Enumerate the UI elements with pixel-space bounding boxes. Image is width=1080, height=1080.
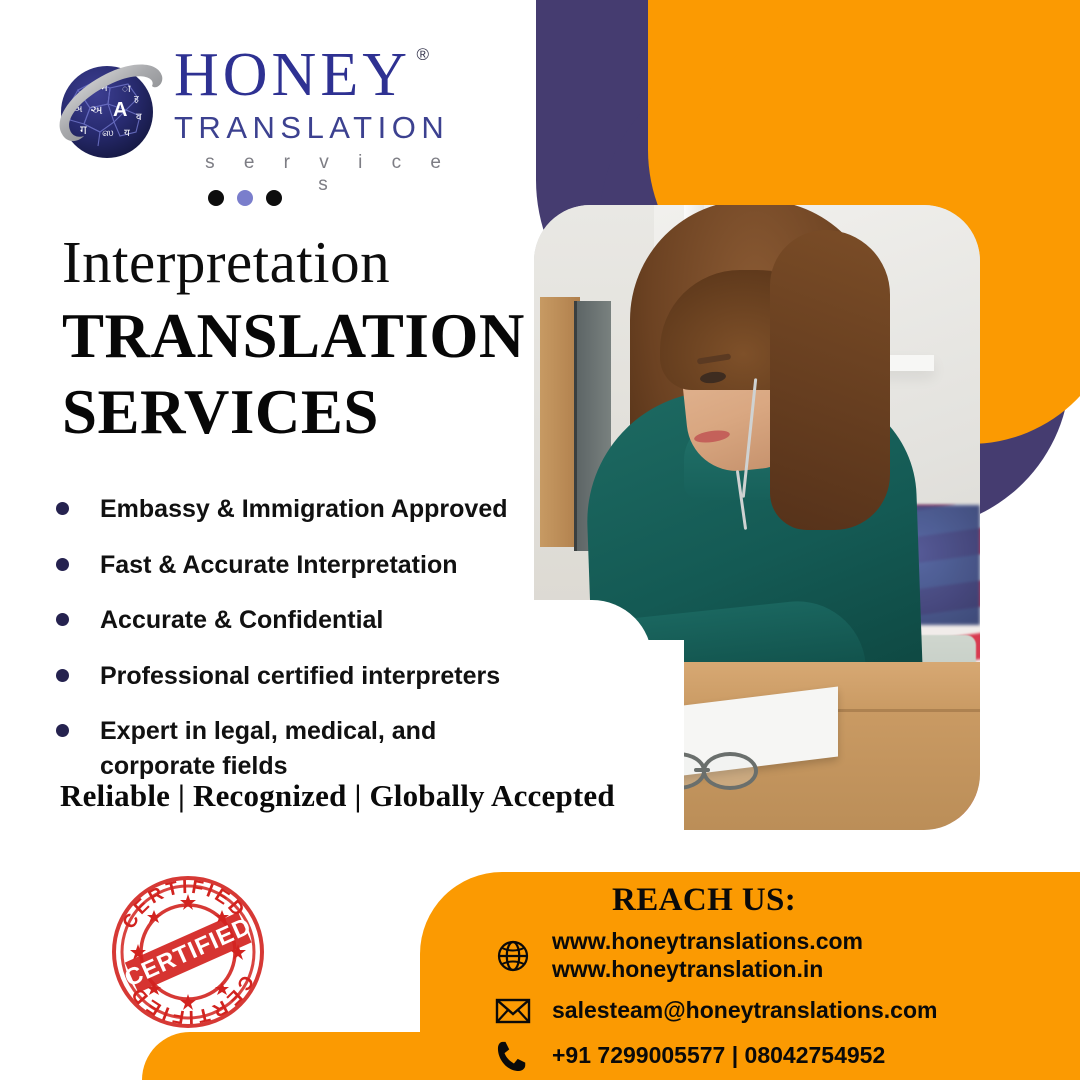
list-item: Accurate & Confidential: [56, 603, 526, 638]
logo-primary-name: HONEY: [174, 41, 411, 109]
svg-text:ा: ा: [122, 84, 131, 95]
bullet-icon: [56, 502, 69, 515]
svg-text:य: य: [124, 128, 130, 139]
dot-1: [208, 190, 224, 206]
list-item: Professional certified interpreters: [56, 659, 526, 694]
dot-2: [237, 190, 253, 206]
logo-wordmark: HONEY® TRANSLATION s e r v i c e s: [174, 44, 468, 196]
list-item-label: Accurate & Confidential: [100, 603, 383, 638]
contact-heading: REACH US:: [612, 882, 796, 919]
bullet-icon: [56, 669, 69, 682]
bullet-icon: [56, 724, 69, 737]
website-primary: www.honeytranslations.com: [552, 928, 863, 954]
bullet-icon: [56, 558, 69, 571]
contact-website-text: www.honeytranslations.com www.honeytrans…: [552, 928, 863, 983]
headline-script-line: Interpretation: [62, 232, 532, 294]
globe-languages-icon: ক म ा ह અ અ A व ग ஸ य: [48, 50, 166, 168]
list-item-label: Fast & Accurate Interpretation: [100, 548, 457, 583]
contact-email-text: salesteam@honeytranslations.com: [552, 997, 937, 1025]
svg-text:ह: ह: [134, 94, 139, 104]
decorative-dots: [208, 190, 282, 206]
website-secondary: www.honeytranslation.in: [552, 956, 863, 984]
list-item-label: Professional certified interpreters: [100, 659, 500, 694]
logo-secondary-name: TRANSLATION: [174, 110, 468, 146]
headline-bold-line-2: SERVICES: [62, 378, 532, 446]
page-title: Interpretation TRANSLATION SERVICES: [62, 232, 532, 446]
svg-text:ஸ: ஸ: [102, 127, 114, 139]
tagline: Reliable | Recognized | Globally Accepte…: [60, 778, 615, 814]
registered-mark: ®: [416, 46, 433, 63]
svg-text:અ: અ: [90, 103, 103, 117]
contact-phone-text: +91 7299005577 | 08042754952: [552, 1042, 885, 1070]
bullet-icon: [56, 613, 69, 626]
contact-list: www.honeytranslations.com www.honeytrans…: [492, 928, 1052, 1080]
promotional-poster: ক म ा ह અ અ A व ग ஸ य HONEY® TRANSLAT: [0, 0, 1080, 1080]
list-item-label: Expert in legal, medical, and corporate …: [100, 714, 460, 783]
phone-icon: [492, 1039, 534, 1073]
svg-text:A: A: [113, 99, 127, 121]
list-item: Fast & Accurate Interpretation: [56, 548, 526, 583]
contact-row-email[interactable]: salesteam@honeytranslations.com: [492, 997, 1052, 1025]
list-item-label: Embassy & Immigration Approved: [100, 492, 508, 527]
list-item: Expert in legal, medical, and corporate …: [56, 714, 526, 783]
contact-row-phone[interactable]: +91 7299005577 | 08042754952: [492, 1039, 1052, 1073]
headline-bold-line-1: TRANSLATION: [62, 302, 532, 370]
svg-text:ग: ग: [80, 123, 87, 137]
feature-list: Embassy & Immigration Approved Fast & Ac…: [56, 492, 526, 804]
globe-icon: [492, 939, 534, 973]
dot-3: [266, 190, 282, 206]
list-item: Embassy & Immigration Approved: [56, 492, 526, 527]
contact-row-website[interactable]: www.honeytranslations.com www.honeytrans…: [492, 928, 1052, 983]
svg-text:व: व: [136, 112, 142, 123]
certified-stamp-icon: CERTIFIED CERTIFIED CERTIFIED: [108, 872, 268, 1032]
envelope-icon: [492, 997, 534, 1025]
brand-logo[interactable]: ক म ा ह અ અ A व ग ஸ य HONEY® TRANSLAT: [48, 44, 468, 174]
